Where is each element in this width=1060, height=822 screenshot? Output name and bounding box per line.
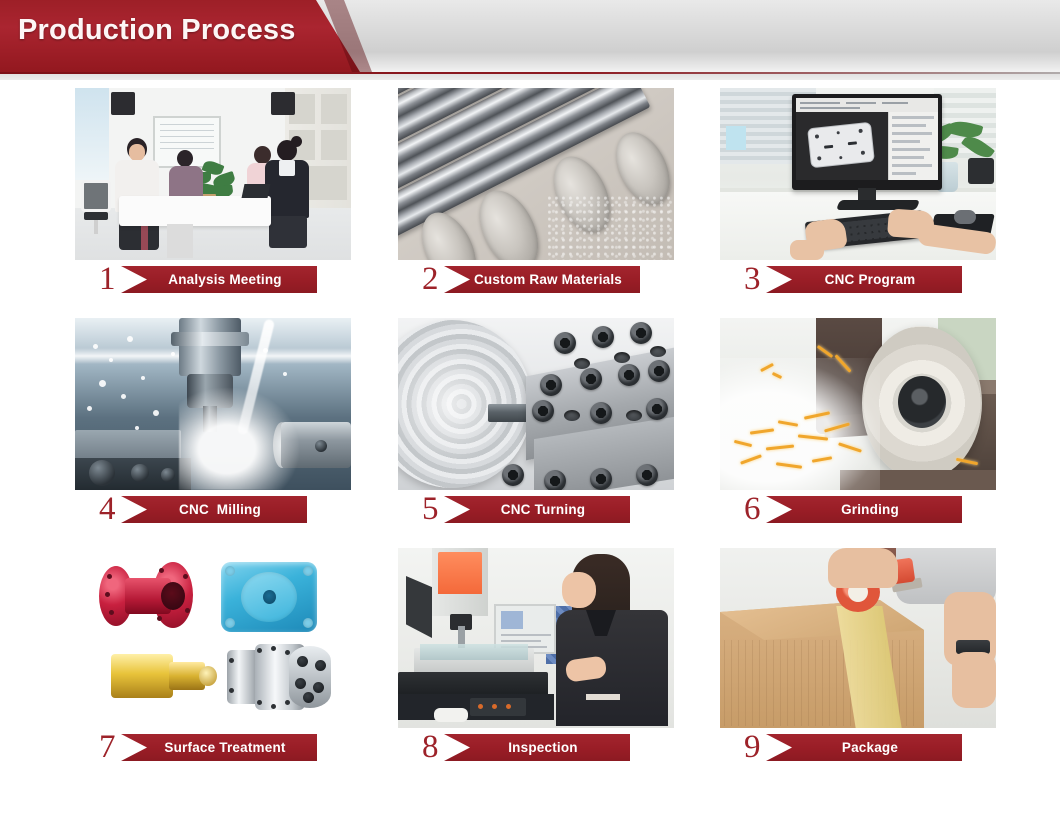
page-header-banner: Production Process [0, 0, 1060, 80]
step-label-tag-2[interactable]: Custom Raw Materials [444, 266, 640, 293]
step-number-8: 8 [422, 730, 439, 764]
step-caption-6: 6 Grinding [720, 490, 996, 534]
step-caption-9: 9 Package [720, 728, 996, 772]
cnc-milling-coolant-photo [75, 318, 351, 490]
step-label-tag-3[interactable]: CNC Program [766, 266, 962, 293]
process-step-3: 3 CNC Program [720, 88, 996, 304]
step-label-text-5: CNC Turning [475, 502, 599, 517]
step-label-text-8: Inspection [482, 740, 592, 755]
process-step-5: 5 CNC Turning [398, 318, 674, 534]
step-label-text-1: Analysis Meeting [142, 272, 295, 287]
step-label-text-4: CNC Milling [153, 502, 275, 517]
step-caption-1: 1 Analysis Meeting [75, 260, 351, 304]
carton-taping-package-photo [720, 548, 996, 728]
step-caption-2: 2 Custom Raw Materials [398, 260, 674, 304]
step-number-1: 1 [99, 262, 116, 296]
step-caption-8: 8 Inspection [398, 728, 674, 772]
step-label-tag-5[interactable]: CNC Turning [444, 496, 630, 523]
step-label-tag-8[interactable]: Inspection [444, 734, 630, 761]
header-fade [0, 74, 1060, 80]
step-number-3: 3 [744, 262, 761, 296]
grinding-wheel-sparks-photo [720, 318, 996, 490]
step-caption-5: 5 CNC Turning [398, 490, 674, 534]
step-number-9: 9 [744, 730, 761, 764]
step-label-tag-7[interactable]: Surface Treatment [121, 734, 317, 761]
process-step-9: 9 Package [720, 548, 996, 772]
process-steps-grid: 1 Analysis Meeting 2 Cust [0, 88, 1060, 778]
step-label-text-3: CNC Program [799, 272, 930, 287]
process-step-2: 2 Custom Raw Materials [398, 88, 674, 304]
step-number-5: 5 [422, 492, 439, 526]
step-caption-4: 4 CNC Milling [75, 490, 351, 534]
process-step-4: 4 CNC Milling [75, 318, 351, 534]
step-number-6: 6 [744, 492, 761, 526]
process-row-3: 7 Surface Treatment [0, 548, 1060, 778]
process-row-2: 4 CNC Milling [0, 318, 1060, 548]
process-step-6: 6 Grinding [720, 318, 996, 534]
cmm-inspection-photo [398, 548, 674, 728]
process-row-1: 1 Analysis Meeting 2 Cust [0, 88, 1060, 318]
cnc-cad-programming-photo [720, 88, 996, 260]
step-label-tag-6[interactable]: Grinding [766, 496, 962, 523]
cnc-lathe-turning-photo [398, 318, 674, 490]
steel-round-bars-photo [398, 88, 674, 260]
step-label-tag-1[interactable]: Analysis Meeting [121, 266, 317, 293]
step-label-tag-4[interactable]: CNC Milling [121, 496, 307, 523]
step-label-text-9: Package [816, 740, 912, 755]
process-step-1: 1 Analysis Meeting [75, 88, 351, 304]
step-caption-7: 7 Surface Treatment [75, 728, 351, 772]
step-caption-3: 3 CNC Program [720, 260, 996, 304]
anodized-plated-parts-photo [75, 548, 351, 728]
step-number-2: 2 [422, 262, 439, 296]
step-number-7: 7 [99, 730, 116, 764]
page-title: Production Process [18, 14, 296, 47]
process-step-8: 8 Inspection [398, 548, 674, 772]
step-label-text-7: Surface Treatment [138, 740, 299, 755]
process-step-7: 7 Surface Treatment [75, 548, 351, 772]
step-label-text-6: Grinding [815, 502, 913, 517]
step-label-tag-9[interactable]: Package [766, 734, 962, 761]
step-label-text-2: Custom Raw Materials [448, 272, 636, 287]
step-number-4: 4 [99, 492, 116, 526]
office-analysis-meeting-photo [75, 88, 351, 260]
